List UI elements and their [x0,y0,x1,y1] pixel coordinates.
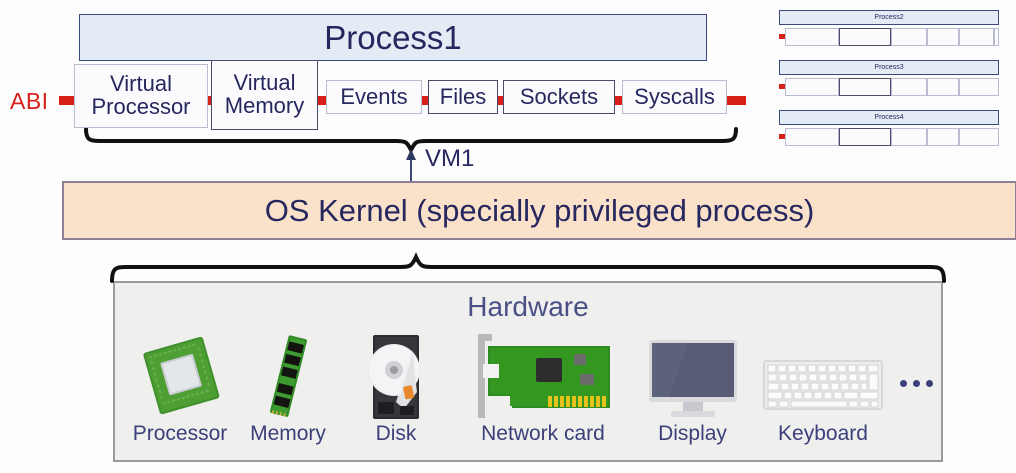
service-label-line1: Virtual [234,70,296,95]
service-box-syscalls[interactable]: Syscalls [622,80,727,114]
service-label-line1: Syscalls [634,86,715,109]
hardware-label-network-card: Network card [468,422,618,446]
service-label-line2: Processor [91,94,190,119]
service-label-line2: Memory [225,93,304,118]
mini-process-2[interactable]: Process2 [779,10,999,50]
keyboard-icon [758,330,888,422]
service-box-virtual-processor[interactable]: VirtualProcessor [74,64,208,128]
service-box-virtual-memory[interactable]: VirtualMemory [211,60,318,130]
processor-icon [125,330,235,422]
hardware-label-keyboard: Keyboard [758,422,888,446]
hardware-item-network-card[interactable]: Network card [468,330,618,446]
mini-process-row [779,128,999,146]
hardware-label-memory: Memory [243,422,333,446]
service-label-line1: Events [340,86,407,109]
mini-process-title: Process3 [779,60,999,75]
service-label-line1: Sockets [520,86,598,109]
vm1-label: VM1 [425,145,474,173]
mini-process-row [779,28,999,46]
mini-process-4[interactable]: Process4 [779,110,999,150]
hardware-item-memory[interactable]: Memory [243,330,333,446]
display-icon [640,330,745,422]
disk-icon [355,330,437,422]
hardware-label-processor: Processor [125,422,235,446]
abi-label: ABI [10,88,49,115]
process1-title-label: Process1 [324,19,462,57]
diagram-canvas: Process1 ABI VirtualProcessor VirtualMem… [0,0,1016,473]
service-label-line1: Files [440,86,486,109]
network-card-icon [468,330,618,422]
hardware-item-display[interactable]: Display [640,330,745,446]
hardware-ellipsis-icon [900,380,933,387]
service-box-events[interactable]: Events [326,80,422,114]
os-kernel-band: OS Kernel (specially privileged process) [62,181,1016,240]
process1-title-bar: Process1 [79,14,707,61]
mini-process-title: Process4 [779,110,999,125]
mini-process-title: Process2 [779,10,999,25]
service-label-line1: Virtual [110,71,172,96]
hardware-item-processor[interactable]: Processor [125,330,235,446]
service-box-files[interactable]: Files [428,80,498,114]
hardware-item-keyboard[interactable]: Keyboard [758,330,888,446]
hardware-title: Hardware [115,291,941,323]
memory-icon [243,330,333,422]
mini-process-row [779,78,999,96]
service-box-sockets[interactable]: Sockets [503,80,615,114]
hardware-item-disk[interactable]: Disk [355,330,437,446]
os-kernel-label: OS Kernel (specially privileged process) [265,193,815,229]
hardware-label-display: Display [640,422,745,446]
mini-process-3[interactable]: Process3 [779,60,999,100]
hardware-label-disk: Disk [355,422,437,446]
